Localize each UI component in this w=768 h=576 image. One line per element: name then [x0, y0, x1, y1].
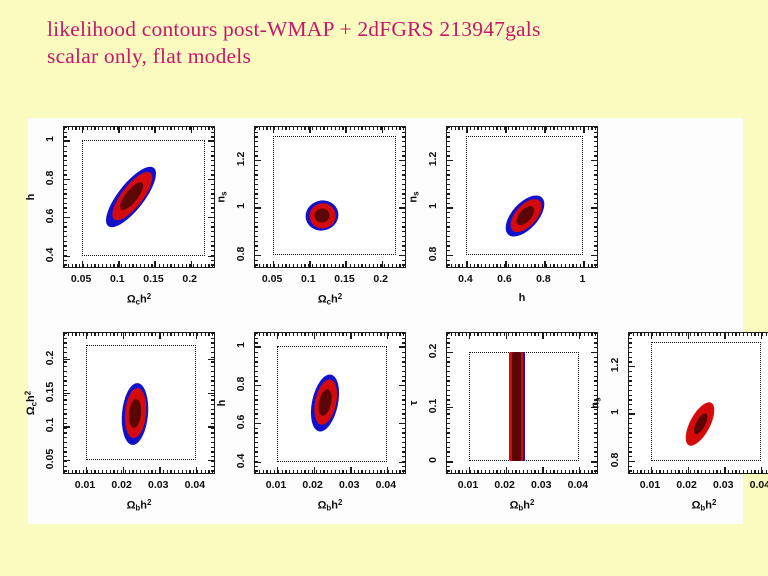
x-minor-tick-top: [129, 333, 130, 336]
x-minor-tick: [106, 470, 107, 473]
x-tick-label: 0.6: [497, 273, 512, 285]
x-minor-tick: [136, 264, 137, 267]
x-minor-tick-top: [91, 333, 92, 336]
y-minor-tick: [447, 207, 450, 208]
x-minor-tick-top: [766, 333, 767, 336]
x-minor-tick-top: [380, 127, 381, 130]
x-minor-tick-top: [527, 127, 528, 130]
x-minor-tick-top: [557, 333, 558, 336]
y-minor-tick-right: [402, 409, 405, 410]
x-minor-tick: [342, 264, 343, 267]
x-minor-tick: [285, 470, 286, 473]
y-minor-tick: [64, 151, 67, 152]
y-minor-tick: [447, 357, 450, 358]
x-minor-tick-top: [519, 127, 520, 130]
y-minor-tick: [64, 160, 67, 161]
x-minor-tick: [584, 264, 585, 267]
x-minor-tick: [728, 470, 729, 473]
x-minor-tick-top: [189, 127, 190, 130]
x-minor-tick-top: [739, 333, 740, 336]
y-tick-label: 1: [235, 343, 247, 349]
x-tick-top: [314, 333, 315, 339]
y-minor-tick: [447, 352, 450, 353]
y-minor-tick: [255, 376, 258, 377]
x-minor-tick-top: [365, 333, 366, 336]
x-minor-tick-top: [68, 127, 69, 130]
x-minor-tick: [396, 470, 397, 473]
x-minor-tick-top: [201, 333, 202, 336]
x-minor-tick: [323, 470, 324, 473]
x-minor-tick: [515, 470, 516, 473]
y-minor-tick: [255, 371, 258, 372]
x-minor-tick: [474, 470, 475, 473]
y-tick-label: 0.15: [44, 381, 56, 401]
y-minor-tick-right: [594, 437, 597, 438]
x-minor-tick-top: [308, 127, 309, 130]
x-minor-tick-top: [474, 127, 475, 130]
x-minor-tick-top: [335, 127, 336, 130]
x-minor-tick: [266, 470, 267, 473]
x-minor-tick: [174, 264, 175, 267]
x-minor-tick-top: [79, 333, 80, 336]
x-minor-tick-top: [75, 127, 76, 130]
y-axis-title: ns: [407, 191, 420, 202]
y-minor-tick: [255, 160, 258, 161]
y-minor-tick-right: [211, 366, 214, 367]
x-minor-tick-top: [117, 127, 118, 130]
x-minor-tick-top: [584, 127, 585, 130]
x-minor-tick-top: [186, 333, 187, 336]
x-minor-tick: [523, 470, 524, 473]
y-minor-tick-right: [402, 347, 405, 348]
y-minor-tick: [629, 442, 632, 443]
y-minor-tick-right: [594, 371, 597, 372]
x-minor-tick: [663, 470, 664, 473]
x-minor-tick-top: [399, 333, 400, 336]
x-minor-tick-top: [569, 333, 570, 336]
x-minor-tick: [572, 264, 573, 267]
x-minor-tick: [182, 470, 183, 473]
y-axis-title: τ: [408, 401, 420, 406]
x-minor-tick: [129, 264, 130, 267]
x-minor-tick: [380, 470, 381, 473]
x-minor-tick-top: [470, 333, 471, 336]
y-minor-tick: [64, 236, 67, 237]
y-tick-label: 1.2: [609, 358, 621, 373]
x-minor-tick-top: [675, 333, 676, 336]
x-minor-tick-top: [384, 127, 385, 130]
x-axis-title: Ωbh2: [318, 498, 343, 513]
x-minor-tick: [527, 264, 528, 267]
y-minor-tick-right: [594, 333, 597, 334]
x-minor-tick-top: [282, 127, 283, 130]
x-minor-tick: [201, 264, 202, 267]
x-minor-tick-top: [301, 127, 302, 130]
x-minor-tick-top: [312, 333, 313, 336]
y-minor-tick: [447, 423, 450, 424]
y-minor-tick-right: [402, 338, 405, 339]
y-tick-label: 0.05: [44, 449, 56, 469]
x-minor-tick-top: [743, 333, 744, 336]
y-minor-tick-right: [594, 245, 597, 246]
x-minor-tick: [637, 470, 638, 473]
y-minor-tick: [255, 241, 258, 242]
x-minor-tick: [667, 470, 668, 473]
x-minor-tick-top: [320, 127, 321, 130]
x-minor-tick: [508, 470, 509, 473]
x-minor-tick-top: [87, 333, 88, 336]
y-minor-tick-right: [594, 352, 597, 353]
y-minor-tick: [447, 342, 450, 343]
x-minor-tick: [466, 264, 467, 267]
x-minor-tick-top: [327, 333, 328, 336]
y-minor-tick: [447, 437, 450, 438]
x-minor-tick: [79, 470, 80, 473]
x-minor-tick-top: [125, 127, 126, 130]
x-minor-tick-top: [301, 333, 302, 336]
y-minor-tick: [447, 347, 450, 348]
x-minor-tick: [500, 264, 501, 267]
x-minor-tick-top: [354, 127, 355, 130]
x-minor-tick: [346, 264, 347, 267]
x-tick-label: 0.8: [536, 273, 551, 285]
x-minor-tick-top: [762, 333, 763, 336]
y-minor-tick-right: [594, 428, 597, 429]
panel-frame: [254, 126, 406, 268]
x-minor-tick-top: [197, 127, 198, 130]
x-minor-tick: [327, 470, 328, 473]
x-tick-label: 0.01: [458, 479, 478, 491]
x-minor-tick-top: [728, 333, 729, 336]
x-minor-tick: [701, 470, 702, 473]
y-tick-label: 1: [235, 204, 247, 210]
x-minor-tick: [373, 264, 374, 267]
y-minor-tick-right: [402, 423, 405, 424]
y-minor-tick: [629, 461, 632, 462]
y-minor-tick-right: [211, 409, 214, 410]
x-minor-tick: [553, 264, 554, 267]
x-minor-tick-top: [451, 333, 452, 336]
y-minor-tick-right: [402, 127, 405, 128]
x-minor-tick-top: [458, 127, 459, 130]
x-minor-tick: [580, 264, 581, 267]
y-minor-tick: [64, 245, 67, 246]
x-minor-tick-top: [705, 333, 706, 336]
y-minor-tick-right: [594, 165, 597, 166]
x-minor-tick: [350, 470, 351, 473]
y-minor-tick: [64, 203, 67, 204]
y-minor-tick: [255, 385, 258, 386]
y-minor-tick-right: [402, 212, 405, 213]
x-minor-tick-top: [527, 333, 528, 336]
x-minor-tick: [500, 470, 501, 473]
y-minor-tick-right: [402, 222, 405, 223]
x-minor-tick-top: [534, 333, 535, 336]
x-minor-tick-top: [572, 333, 573, 336]
y-minor-tick-right: [594, 203, 597, 204]
x-minor-tick: [79, 264, 80, 267]
x-minor-tick-top: [68, 333, 69, 336]
x-minor-tick-top: [470, 127, 471, 130]
y-minor-tick: [629, 390, 632, 391]
x-minor-tick-top: [205, 127, 206, 130]
x-minor-tick-top: [121, 333, 122, 336]
x-minor-tick-top: [167, 333, 168, 336]
y-minor-tick-right: [211, 146, 214, 147]
x-minor-tick: [197, 470, 198, 473]
y-minor-tick: [64, 432, 67, 433]
x-minor-tick: [369, 264, 370, 267]
y-minor-tick: [447, 141, 450, 142]
x-minor-tick-top: [354, 333, 355, 336]
x-minor-tick: [193, 264, 194, 267]
x-minor-tick-top: [758, 333, 759, 336]
x-minor-tick-top: [588, 333, 589, 336]
y-tick-label: 0.8: [44, 170, 56, 185]
x-minor-tick-top: [208, 333, 209, 336]
x-minor-tick: [561, 470, 562, 473]
x-axis-title: h: [519, 292, 526, 304]
x-minor-tick: [512, 470, 513, 473]
y-tick-label: 0.2: [44, 350, 56, 365]
y-minor-tick: [64, 155, 67, 156]
x-minor-tick-top: [339, 127, 340, 130]
x-minor-tick: [320, 264, 321, 267]
y-minor-tick-right: [211, 127, 214, 128]
x-minor-tick-top: [523, 127, 524, 130]
y-minor-tick: [447, 212, 450, 213]
x-minor-tick: [117, 470, 118, 473]
x-minor-tick: [512, 264, 513, 267]
y-minor-tick-right: [594, 241, 597, 242]
x-tick-top: [506, 333, 507, 339]
y-minor-tick: [447, 203, 450, 204]
y-minor-tick: [629, 409, 632, 410]
x-minor-tick-top: [293, 333, 294, 336]
x-minor-tick-top: [557, 127, 558, 130]
x-tick-label: 0.05: [71, 273, 91, 285]
y-minor-tick-right: [594, 466, 597, 467]
y-minor-tick-right: [402, 189, 405, 190]
x-minor-tick-top: [121, 127, 122, 130]
x-axis-title: Ωbh2: [510, 498, 535, 513]
y-minor-tick-right: [402, 371, 405, 372]
x-minor-tick: [274, 470, 275, 473]
y-minor-tick: [255, 451, 258, 452]
x-minor-tick-top: [266, 127, 267, 130]
x-minor-tick: [87, 264, 88, 267]
x-minor-tick-top: [270, 127, 271, 130]
y-minor-tick: [255, 352, 258, 353]
x-minor-tick-top: [678, 333, 679, 336]
y-minor-tick: [447, 413, 450, 414]
x-minor-tick-top: [709, 333, 710, 336]
x-minor-tick: [451, 264, 452, 267]
x-minor-tick-top: [94, 333, 95, 336]
y-minor-tick: [447, 255, 450, 256]
x-minor-tick: [546, 264, 547, 267]
x-minor-tick: [720, 470, 721, 473]
x-minor-tick-top: [186, 127, 187, 130]
x-minor-tick: [678, 470, 679, 473]
x-minor-tick-top: [331, 333, 332, 336]
x-minor-tick: [591, 264, 592, 267]
x-minor-tick-top: [455, 127, 456, 130]
x-tick-label: 0.01: [266, 479, 286, 491]
x-tick-label: 0.03: [713, 479, 733, 491]
x-minor-tick-top: [538, 333, 539, 336]
y-minor-tick: [64, 212, 67, 213]
x-minor-tick: [274, 264, 275, 267]
y-tick: [64, 359, 70, 360]
x-minor-tick: [113, 264, 114, 267]
y-minor-tick: [629, 371, 632, 372]
x-minor-tick: [493, 470, 494, 473]
y-tick-label: 1: [44, 137, 56, 143]
x-minor-tick-top: [561, 333, 562, 336]
y-minor-tick: [255, 236, 258, 237]
x-minor-tick-top: [576, 333, 577, 336]
x-minor-tick: [335, 470, 336, 473]
x-minor-tick: [278, 264, 279, 267]
y-minor-tick: [64, 442, 67, 443]
y-minor-tick-right: [402, 380, 405, 381]
y-minor-tick: [255, 447, 258, 448]
y-minor-tick-right: [594, 127, 597, 128]
y-minor-tick: [255, 461, 258, 462]
x-tick-label: 0.02: [494, 479, 514, 491]
x-tick-label: 0.04: [185, 479, 205, 491]
x-minor-tick-top: [373, 333, 374, 336]
x-tick-label: 0.03: [531, 479, 551, 491]
x-minor-tick-top: [365, 127, 366, 130]
y-minor-tick: [255, 170, 258, 171]
x-minor-tick: [75, 264, 76, 267]
x-minor-tick: [94, 264, 95, 267]
x-minor-tick: [159, 264, 160, 267]
x-minor-tick: [576, 264, 577, 267]
y-minor-tick-right: [211, 385, 214, 386]
y-minor-tick-right: [594, 146, 597, 147]
y-minor-tick: [64, 333, 67, 334]
x-minor-tick: [470, 470, 471, 473]
x-minor-tick: [208, 470, 209, 473]
x-minor-tick: [365, 264, 366, 267]
x-minor-tick-top: [320, 333, 321, 336]
x-minor-tick-top: [339, 333, 340, 336]
contour-panel-p1: 0.050.10.150.20.40.60.81Ωch2h: [63, 126, 215, 268]
x-minor-tick-top: [182, 127, 183, 130]
x-minor-tick: [354, 264, 355, 267]
y-tick-label: 0.1: [427, 398, 439, 413]
x-minor-tick: [569, 470, 570, 473]
x-minor-tick: [523, 264, 524, 267]
x-minor-tick: [508, 264, 509, 267]
x-minor-tick: [481, 470, 482, 473]
y-minor-tick: [447, 193, 450, 194]
x-minor-tick-top: [285, 127, 286, 130]
x-minor-tick-top: [182, 333, 183, 336]
y-minor-tick-right: [402, 342, 405, 343]
x-minor-tick: [159, 470, 160, 473]
x-minor-tick: [580, 470, 581, 473]
y-minor-tick: [629, 342, 632, 343]
x-tick-top: [505, 127, 506, 133]
y-minor-tick: [255, 413, 258, 414]
y-minor-tick: [447, 189, 450, 190]
x-minor-tick-top: [75, 333, 76, 336]
y-minor-tick-right: [211, 399, 214, 400]
x-minor-tick-top: [144, 127, 145, 130]
y-minor-tick-right: [211, 338, 214, 339]
x-minor-tick: [132, 470, 133, 473]
y-minor-tick-right: [211, 151, 214, 152]
x-minor-tick-top: [392, 127, 393, 130]
x-minor-tick-top: [140, 127, 141, 130]
y-minor-tick: [255, 212, 258, 213]
y-minor-tick: [629, 413, 632, 414]
x-tick-label: 0.02: [302, 479, 322, 491]
y-minor-tick: [447, 409, 450, 410]
x-minor-tick: [144, 470, 145, 473]
x-minor-tick: [399, 470, 400, 473]
y-axis-title: h: [25, 194, 37, 201]
y-minor-tick-right: [211, 198, 214, 199]
y-minor-tick-right: [594, 347, 597, 348]
y-minor-tick-right: [594, 366, 597, 367]
y-minor-tick-right: [211, 395, 214, 396]
x-minor-tick-top: [652, 333, 653, 336]
x-minor-tick-top: [174, 333, 175, 336]
x-minor-tick-top: [553, 333, 554, 336]
y-minor-tick: [447, 260, 450, 261]
x-minor-tick: [358, 470, 359, 473]
y-minor-tick-right: [402, 184, 405, 185]
y-minor-tick: [447, 418, 450, 419]
y-minor-tick: [64, 447, 67, 448]
y-minor-tick-right: [211, 380, 214, 381]
x-minor-tick-top: [335, 333, 336, 336]
y-minor-tick-right: [402, 399, 405, 400]
y-minor-tick: [629, 385, 632, 386]
y-tick-label: 0.8: [235, 376, 247, 391]
x-minor-tick-top: [720, 333, 721, 336]
y-minor-tick: [255, 361, 258, 362]
x-minor-tick: [125, 470, 126, 473]
x-minor-tick-top: [580, 333, 581, 336]
y-minor-tick: [64, 198, 67, 199]
y-axis-title: h: [216, 400, 228, 407]
y-minor-tick: [255, 442, 258, 443]
x-minor-tick-top: [663, 333, 664, 336]
x-minor-tick: [361, 264, 362, 267]
x-minor-tick-top: [591, 127, 592, 130]
y-minor-tick: [255, 207, 258, 208]
x-minor-tick-top: [193, 127, 194, 130]
y-minor-tick-right: [594, 380, 597, 381]
y-minor-tick: [64, 399, 67, 400]
x-minor-tick-top: [331, 127, 332, 130]
x-minor-tick: [659, 470, 660, 473]
y-minor-tick: [447, 217, 450, 218]
x-minor-tick: [561, 264, 562, 267]
y-minor-tick-right: [211, 255, 214, 256]
x-minor-tick-top: [167, 127, 168, 130]
y-minor-tick: [447, 432, 450, 433]
y-minor-tick-right: [402, 203, 405, 204]
y-minor-tick: [64, 395, 67, 396]
y-minor-tick: [447, 179, 450, 180]
